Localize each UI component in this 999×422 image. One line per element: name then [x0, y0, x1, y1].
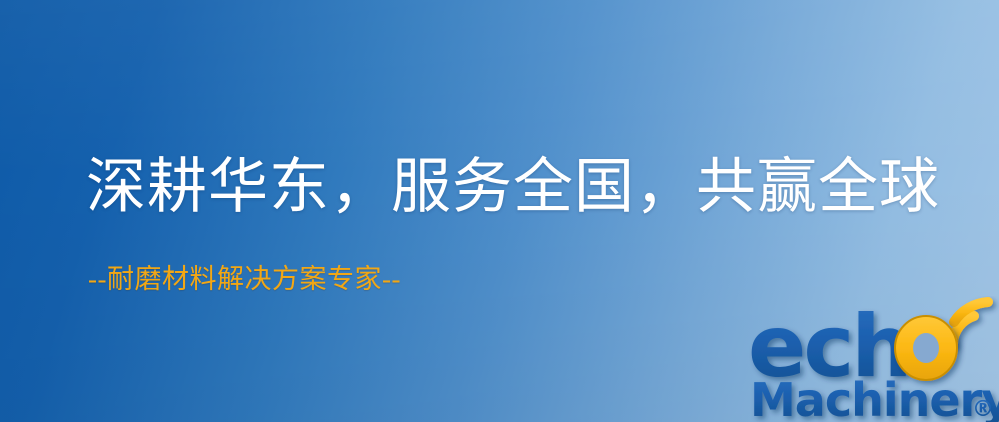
promotional-banner: 深耕华东，服务全国，共赢全球 --耐磨材料解决方案专家--	[0, 0, 999, 422]
banner-subtitle: --耐磨材料解决方案专家--	[88, 263, 401, 295]
logo-wordmark-machinery: Machinery ®	[750, 373, 999, 422]
logo-wordmark-o	[895, 316, 957, 380]
registered-trademark-icon: ®	[972, 397, 994, 422]
echo-machinery-logo: ech Machinery ®	[748, 296, 999, 422]
logo-graphic: ech Machinery ®	[748, 296, 999, 422]
banner-headline: 深耕华东，服务全国，共赢全球	[86, 152, 940, 222]
svg-text:Machinery: Machinery	[750, 373, 999, 422]
echo-wave-icon	[953, 302, 988, 344]
